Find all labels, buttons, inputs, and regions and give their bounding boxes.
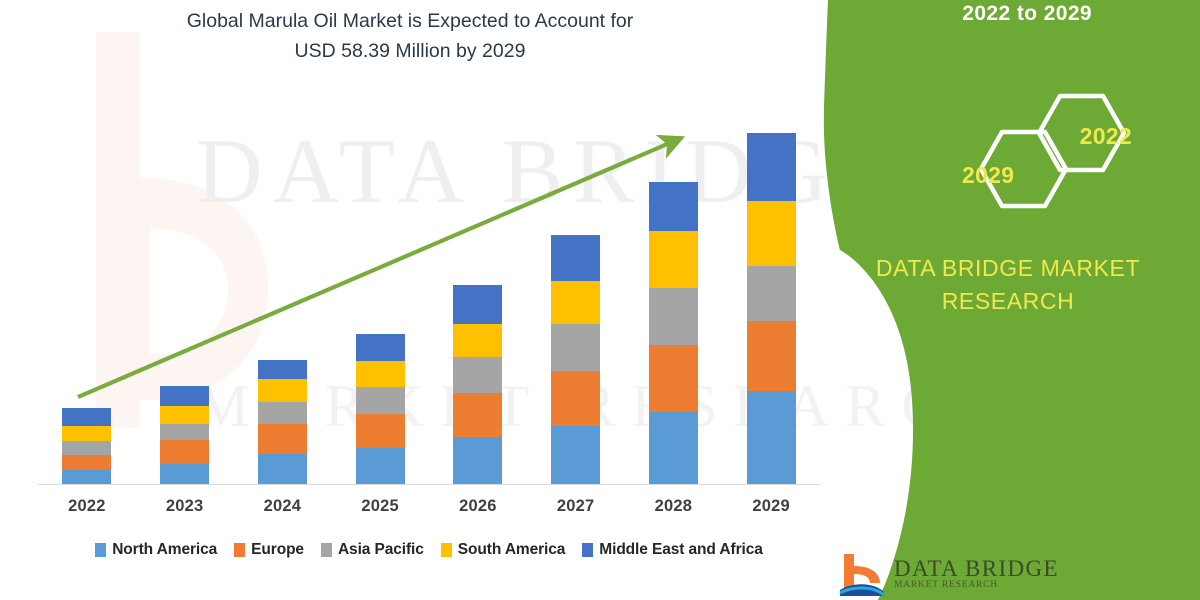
bar-column[interactable]: [38, 110, 136, 484]
legend-swatch: [95, 543, 106, 557]
bar-segment[interactable]: [160, 406, 209, 424]
bar-segment[interactable]: [62, 426, 111, 441]
bar-segment[interactable]: [551, 235, 600, 281]
bar-segment[interactable]: [62, 408, 111, 426]
bar-segment[interactable]: [551, 426, 600, 484]
bar-column[interactable]: [234, 110, 332, 484]
bar-stack[interactable]: [62, 408, 111, 484]
x-axis-label: 2026: [429, 497, 527, 516]
bar-segment[interactable]: [356, 334, 405, 361]
bar-segment[interactable]: [453, 324, 502, 357]
bar-segment[interactable]: [160, 440, 209, 464]
bar-segment[interactable]: [258, 379, 307, 402]
bar-stack[interactable]: [160, 386, 209, 484]
bar-column[interactable]: [722, 110, 820, 484]
chart-baseline: [38, 484, 820, 485]
bar-segment[interactable]: [258, 360, 307, 379]
legend-swatch: [321, 543, 332, 557]
logo-subtitle: MARKET RESEARCH: [894, 581, 1059, 591]
panel-years-range: 2022 to 2029: [962, 2, 1092, 26]
x-axis-label: 2024: [234, 497, 332, 516]
legend-label: Middle East and Africa: [599, 541, 762, 559]
legend-swatch: [441, 543, 452, 557]
legend-item[interactable]: Asia Pacific: [321, 541, 424, 559]
bar-segment[interactable]: [649, 412, 698, 484]
panel-brand-line2: RESEARCH: [848, 285, 1168, 318]
panel-brand-name: DATA BRIDGE MARKET RESEARCH: [848, 252, 1168, 317]
legend-item[interactable]: Middle East and Africa: [582, 541, 762, 559]
hexagon-group: 2022 2029: [940, 90, 1140, 230]
bar-segment[interactable]: [453, 357, 502, 393]
bar-segment[interactable]: [258, 454, 307, 484]
legend-label: Europe: [251, 541, 304, 559]
stacked-bar-chart: 20222023202420252026202720282029: [0, 0, 820, 600]
bar-segment[interactable]: [453, 285, 502, 324]
bar-segment[interactable]: [747, 201, 796, 266]
legend-swatch: [582, 543, 593, 557]
x-axis-label: 2023: [136, 497, 234, 516]
bar-group: [38, 110, 820, 484]
x-axis-label: 2027: [527, 497, 625, 516]
bar-stack[interactable]: [258, 360, 307, 484]
bridge-icon: [838, 552, 884, 596]
bar-segment[interactable]: [62, 470, 111, 484]
bar-segment[interactable]: [649, 231, 698, 288]
bar-stack[interactable]: [356, 334, 405, 484]
logo-title: DATA BRIDGE: [894, 557, 1059, 581]
bar-column[interactable]: [625, 110, 723, 484]
bar-segment[interactable]: [453, 437, 502, 484]
legend-label: North America: [112, 541, 217, 559]
panel-brand-line1: DATA BRIDGE MARKET: [848, 252, 1168, 285]
bar-segment[interactable]: [747, 266, 796, 321]
page-title: Global Marula Oil Market is Expected to …: [0, 6, 820, 66]
bar-segment[interactable]: [62, 441, 111, 455]
x-axis-label: 2025: [331, 497, 429, 516]
bar-segment[interactable]: [747, 321, 796, 391]
bar-segment[interactable]: [160, 424, 209, 440]
bar-segment[interactable]: [356, 414, 405, 448]
bar-column[interactable]: [136, 110, 234, 484]
page-title-line1: Global Marula Oil Market is Expected to …: [0, 6, 820, 36]
legend-item[interactable]: Europe: [234, 541, 304, 559]
bar-stack[interactable]: [453, 285, 502, 484]
bar-segment[interactable]: [258, 424, 307, 454]
bar-stack[interactable]: [551, 235, 600, 484]
bar-column[interactable]: [331, 110, 429, 484]
bar-segment[interactable]: [356, 448, 405, 484]
chart-legend: North AmericaEuropeAsia PacificSouth Ame…: [38, 541, 820, 559]
hexagon-label-2022: 2022: [1080, 123, 1132, 150]
bar-segment[interactable]: [649, 182, 698, 231]
bar-segment[interactable]: [747, 133, 796, 201]
bar-stack[interactable]: [649, 182, 698, 484]
bar-segment[interactable]: [160, 386, 209, 406]
bar-column[interactable]: [527, 110, 625, 484]
bar-segment[interactable]: [551, 281, 600, 324]
bar-segment[interactable]: [62, 455, 111, 470]
bar-segment[interactable]: [551, 371, 600, 426]
x-axis-label: 2029: [722, 497, 820, 516]
bar-segment[interactable]: [747, 391, 796, 484]
legend-item[interactable]: North America: [95, 541, 217, 559]
bar-stack[interactable]: [747, 133, 796, 484]
infographic-canvas: DATA BRIDGE MARKET RESEARCH 2022 to 2029…: [0, 0, 1200, 600]
bar-column[interactable]: [429, 110, 527, 484]
bar-segment[interactable]: [551, 324, 600, 371]
page-title-line2: USD 58.39 Million by 2029: [0, 36, 820, 66]
x-axis-labels: 20222023202420252026202720282029: [38, 497, 820, 516]
bar-segment[interactable]: [649, 345, 698, 412]
bar-segment[interactable]: [649, 288, 698, 345]
legend-label: South America: [458, 541, 566, 559]
legend-swatch: [234, 543, 245, 557]
hexagon-label-2029: 2029: [962, 162, 1014, 189]
x-axis-label: 2022: [38, 497, 136, 516]
legend-item[interactable]: South America: [441, 541, 566, 559]
data-bridge-logo: DATA BRIDGE MARKET RESEARCH: [838, 552, 1059, 596]
legend-label: Asia Pacific: [338, 541, 424, 559]
bar-segment[interactable]: [258, 402, 307, 424]
bar-segment[interactable]: [356, 387, 405, 414]
bar-segment[interactable]: [453, 393, 502, 437]
bar-segment[interactable]: [160, 464, 209, 484]
x-axis-label: 2028: [625, 497, 723, 516]
bar-segment[interactable]: [356, 361, 405, 387]
